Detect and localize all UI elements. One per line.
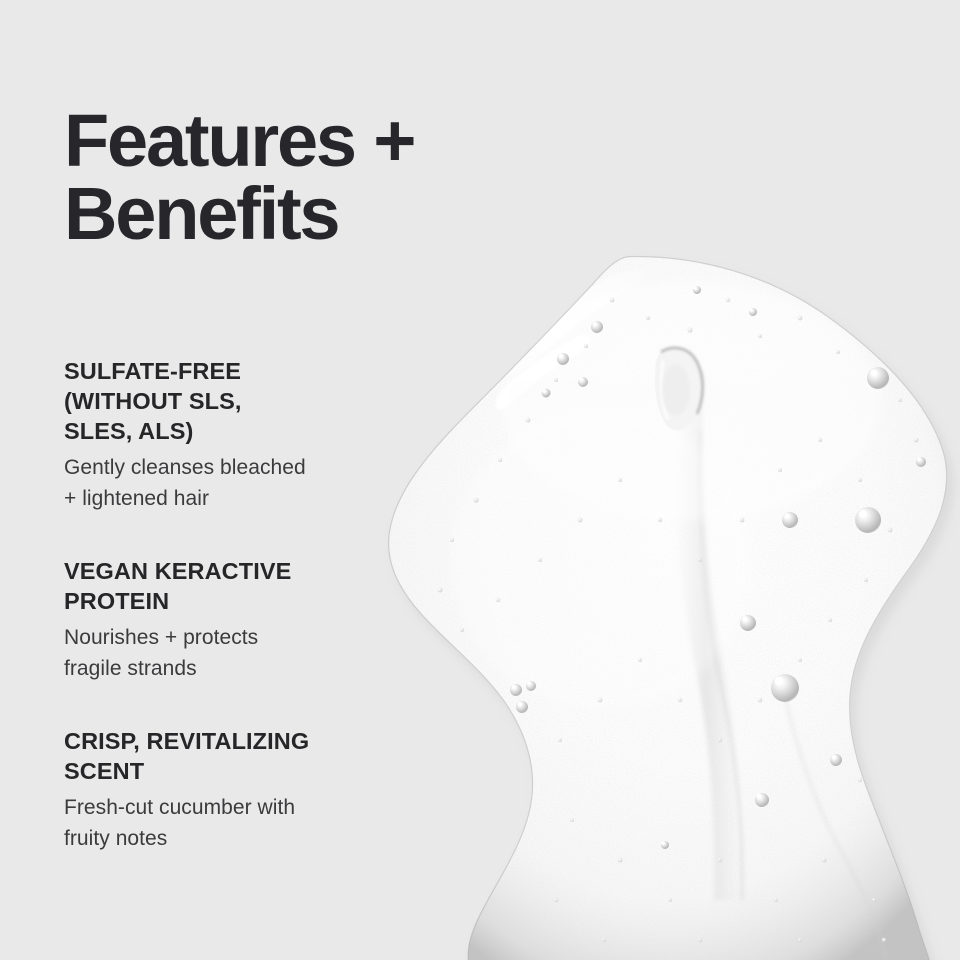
micro-bubbles [438, 298, 919, 943]
feature-title: VEGAN KERACTIVE PROTEIN [64, 556, 424, 616]
feature-description: Nourishes + protects fragile strands [64, 622, 424, 684]
product-feature-slide: Features + Benefits SULFATE-FREE (WITHOU… [0, 0, 960, 960]
gloss-highlight [496, 270, 644, 410]
page-title: Features + Benefits [64, 104, 544, 251]
feature-title: SULFATE-FREE (WITHOUT SLS, SLES, ALS) [64, 356, 424, 446]
swatch-shadow [394, 264, 953, 960]
feature-item-sulfate-free: SULFATE-FREE (WITHOUT SLS, SLES, ALS) Ge… [64, 356, 424, 514]
gel-cavity [655, 348, 703, 430]
text-column: Features + Benefits SULFATE-FREE (WITHOU… [64, 0, 464, 960]
feature-description: Fresh-cut cucumber with fruity notes [64, 792, 424, 854]
feature-item-vegan-keractive-protein: VEGAN KERACTIVE PROTEIN Nourishes + prot… [64, 556, 424, 684]
bubbles [510, 286, 926, 849]
feature-description: Gently cleanses bleached + lightened hai… [64, 452, 424, 514]
feature-title: CRISP, REVITALIZING SCENT [64, 726, 424, 786]
gel-body [388, 256, 947, 960]
feature-item-crisp-revitalizing-scent: CRISP, REVITALIZING SCENT Fresh-cut cucu… [64, 726, 424, 854]
feature-list: SULFATE-FREE (WITHOUT SLS, SLES, ALS) Ge… [64, 356, 424, 854]
